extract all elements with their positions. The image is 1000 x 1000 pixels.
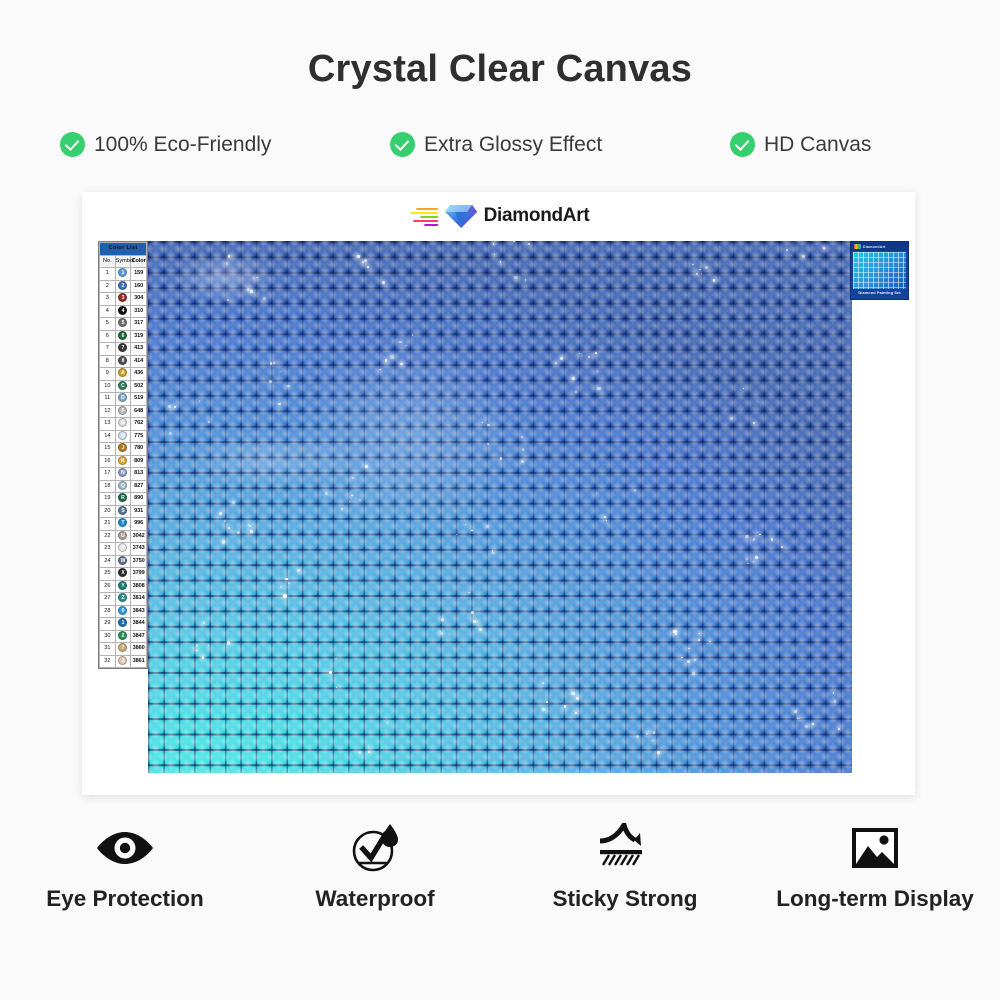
color-row-number: 15 xyxy=(100,443,116,456)
bottom-feature-label: Sticky Strong xyxy=(500,886,750,912)
color-swatch-icon: D xyxy=(118,393,127,402)
color-row-code: 3808 xyxy=(131,580,147,593)
package-brand-name: DiamondArt xyxy=(863,245,886,249)
art-rhinestone-grid-layer xyxy=(148,241,852,773)
feature-item-eco-friendly: 100% Eco-Friendly xyxy=(60,132,390,157)
color-row-code: 310 xyxy=(131,305,147,318)
diamond-art-image xyxy=(148,241,852,773)
color-swatch-icon: T xyxy=(118,518,127,527)
color-swatch-icon: 6 xyxy=(118,331,127,340)
color-row-symbol: C xyxy=(115,380,131,393)
color-row-code: 775 xyxy=(131,430,147,443)
color-list-row: 10C502 xyxy=(100,380,147,393)
color-row-number: 18 xyxy=(100,480,116,493)
color-row-code: 414 xyxy=(131,355,147,368)
color-row-number: 7 xyxy=(100,343,116,356)
color-row-symbol: S xyxy=(115,505,131,518)
color-row-number: 10 xyxy=(100,380,116,393)
bottom-feature-eye-protection: Eye Protection xyxy=(0,820,250,912)
color-row-number: 8 xyxy=(100,355,116,368)
water-drop-check-icon xyxy=(250,820,500,876)
check-circle-icon xyxy=(390,132,415,157)
color-row-symbol: 4 xyxy=(115,305,131,318)
bottom-feature-waterproof: Waterproof xyxy=(250,820,500,912)
color-row-number: 23 xyxy=(100,543,116,556)
feature-item-glossy-effect: Extra Glossy Effect xyxy=(390,132,730,157)
color-row-number: 2 xyxy=(100,280,116,293)
color-row-code: 317 xyxy=(131,318,147,331)
color-swatch-icon: R xyxy=(118,493,127,502)
color-list-row: 32J3861 xyxy=(100,655,147,668)
color-swatch-icon: 4 xyxy=(118,306,127,315)
color-row-number: 31 xyxy=(100,643,116,656)
color-swatch-icon: 1 xyxy=(118,618,127,627)
color-row-number: 24 xyxy=(100,555,116,568)
color-row-code: 3844 xyxy=(131,618,147,631)
color-list-row: 17N813 xyxy=(100,468,147,481)
color-list-row: 27Z3814 xyxy=(100,593,147,606)
column-header-no: No. xyxy=(100,255,116,268)
color-list-row: 2803843 xyxy=(100,605,147,618)
color-row-code: 413 xyxy=(131,343,147,356)
color-row-code: 3799 xyxy=(131,568,147,581)
eye-icon xyxy=(0,820,250,876)
color-row-symbol: U xyxy=(115,530,131,543)
brand-name: DiamondArt xyxy=(484,205,590,227)
color-swatch-icon: 7 xyxy=(118,343,127,352)
color-swatch-icon: N xyxy=(118,468,127,477)
picture-icon xyxy=(750,820,1000,876)
feature-label: HD Canvas xyxy=(764,133,871,157)
color-row-symbol: V xyxy=(115,543,131,556)
color-swatch-icon: 1 xyxy=(118,268,127,277)
color-row-number: 32 xyxy=(100,655,116,668)
color-row-symbol: A xyxy=(115,368,131,381)
bottom-feature-label: Long-term Display xyxy=(750,886,1000,912)
color-row-code: 304 xyxy=(131,293,147,306)
color-list-row: 19R890 xyxy=(100,493,147,506)
color-row-code: 3743 xyxy=(131,543,147,556)
color-row-number: 5 xyxy=(100,318,116,331)
color-swatch-icon: K xyxy=(118,456,127,465)
package-caption: Diamond Painting Set xyxy=(851,290,908,295)
color-swatch-icon: Z xyxy=(118,593,127,602)
page-title: Crystal Clear Canvas xyxy=(0,48,1000,91)
color-row-code: 996 xyxy=(131,518,147,531)
color-list-row: 11D519 xyxy=(100,393,147,406)
rainbow-streaks-icon xyxy=(408,205,438,227)
color-row-code: 809 xyxy=(131,455,147,468)
color-list-row: 77413 xyxy=(100,343,147,356)
color-row-symbol: J xyxy=(115,443,131,456)
brand-logo: DiamondArt xyxy=(408,201,590,231)
color-list-row: 25X3799 xyxy=(100,568,147,581)
package-brand-bar: DiamondArt xyxy=(851,242,908,251)
color-row-code: 3861 xyxy=(131,655,147,668)
color-row-symbol: 0 xyxy=(115,605,131,618)
color-row-number: 25 xyxy=(100,568,116,581)
color-row-code: 319 xyxy=(131,330,147,343)
color-row-code: 813 xyxy=(131,468,147,481)
color-swatch-icon: 2 xyxy=(118,631,127,640)
color-swatch-icon: 0 xyxy=(118,606,127,615)
color-row-number: 14 xyxy=(100,430,116,443)
color-row-code: 3860 xyxy=(131,643,147,656)
color-row-symbol: 5 xyxy=(115,318,131,331)
color-row-symbol: 7 xyxy=(115,643,131,656)
bottom-feature-label: Waterproof xyxy=(250,886,500,912)
color-row-symbol: X xyxy=(115,568,131,581)
color-row-symbol: 7 xyxy=(115,343,131,356)
color-swatch-icon: A xyxy=(118,368,127,377)
color-list-row: 18Q827 xyxy=(100,480,147,493)
color-row-number: 29 xyxy=(100,618,116,631)
color-row-number: 9 xyxy=(100,368,116,381)
color-row-code: 648 xyxy=(131,405,147,418)
color-row-symbol: Z xyxy=(115,593,131,606)
package-art-preview xyxy=(853,252,906,289)
color-list-title: Color List xyxy=(100,243,147,256)
color-list-row: 55317 xyxy=(100,318,147,331)
product-canvas-frame: DiamondArt Color List No. Symbol Color 1… xyxy=(82,192,915,795)
color-list-row: 11159 xyxy=(100,268,147,281)
color-swatch-icon: X xyxy=(118,568,127,577)
color-row-symbol: 3 xyxy=(115,293,131,306)
feature-label: 100% Eco-Friendly xyxy=(94,133,271,157)
feature-item-hd-canvas: HD Canvas xyxy=(730,132,950,157)
bottom-feature-long-term-display: Long-term Display xyxy=(750,820,1000,912)
color-list-row: 22U3042 xyxy=(100,530,147,543)
color-row-symbol: G xyxy=(115,418,131,431)
color-list-row: 22160 xyxy=(100,280,147,293)
color-row-symbol: F xyxy=(115,405,131,418)
package-thumbnail: DiamondArt Diamond Painting Set xyxy=(850,241,909,300)
color-row-code: 3847 xyxy=(131,630,147,643)
color-list-row: 23V3743 xyxy=(100,543,147,556)
color-swatch-icon: C xyxy=(118,381,127,390)
color-swatch-icon: J xyxy=(118,443,127,452)
color-row-number: 17 xyxy=(100,468,116,481)
color-row-code: 160 xyxy=(131,280,147,293)
color-row-number: 22 xyxy=(100,530,116,543)
color-row-number: 16 xyxy=(100,455,116,468)
color-list-row: 13G762 xyxy=(100,418,147,431)
check-circle-icon xyxy=(730,132,755,157)
color-row-number: 3 xyxy=(100,293,116,306)
diamond-icon xyxy=(444,203,478,229)
color-row-symbol: Q xyxy=(115,480,131,493)
color-swatch-icon: 7 xyxy=(118,643,127,652)
bottom-feature-label: Eye Protection xyxy=(0,886,250,912)
color-list-row: 88414 xyxy=(100,355,147,368)
color-row-number: 1 xyxy=(100,268,116,281)
feature-label: Extra Glossy Effect xyxy=(424,133,602,157)
color-row-number: 13 xyxy=(100,418,116,431)
sticky-adhesive-icon xyxy=(500,820,750,876)
color-row-code: 890 xyxy=(131,493,147,506)
color-list-row: 14H775 xyxy=(100,430,147,443)
color-row-code: 436 xyxy=(131,368,147,381)
color-swatch-icon: J xyxy=(118,656,127,665)
color-row-code: 827 xyxy=(131,480,147,493)
color-list-row: 26Y3808 xyxy=(100,580,147,593)
color-row-symbol: D xyxy=(115,393,131,406)
color-row-symbol: T xyxy=(115,518,131,531)
color-swatch-icon: V xyxy=(118,543,127,552)
color-row-number: 11 xyxy=(100,393,116,406)
color-row-symbol: K xyxy=(115,455,131,468)
column-header-color: Color xyxy=(131,255,147,268)
color-row-code: 519 xyxy=(131,393,147,406)
color-list-row: 2913844 xyxy=(100,618,147,631)
color-swatch-icon: 2 xyxy=(118,281,127,290)
color-swatch-icon: S xyxy=(118,506,127,515)
color-list-table: Color List No. Symbol Color 111592216033… xyxy=(98,241,148,669)
color-list-row: 33304 xyxy=(100,293,147,306)
color-swatch-icon: W xyxy=(118,556,127,565)
color-row-number: 19 xyxy=(100,493,116,506)
color-swatch-icon: F xyxy=(118,406,127,415)
color-row-symbol: N xyxy=(115,468,131,481)
color-row-code: 3843 xyxy=(131,605,147,618)
color-row-code: 159 xyxy=(131,268,147,281)
color-row-number: 28 xyxy=(100,605,116,618)
color-row-number: 26 xyxy=(100,580,116,593)
color-list-row: 3173860 xyxy=(100,643,147,656)
color-list-row: 15J780 xyxy=(100,443,147,456)
bottom-feature-row: Eye Protection Waterproof xyxy=(0,820,1000,912)
color-row-symbol: W xyxy=(115,555,131,568)
color-list-row: 44310 xyxy=(100,305,147,318)
color-row-number: 20 xyxy=(100,505,116,518)
color-row-symbol: Y xyxy=(115,580,131,593)
color-row-code: 502 xyxy=(131,380,147,393)
color-row-code: 3750 xyxy=(131,555,147,568)
color-row-code: 780 xyxy=(131,443,147,456)
bottom-feature-sticky-strong: Sticky Strong xyxy=(500,820,750,912)
color-list-row: 12F648 xyxy=(100,405,147,418)
color-row-symbol: H xyxy=(115,430,131,443)
package-rainbow-icon xyxy=(854,244,861,249)
color-row-code: 931 xyxy=(131,505,147,518)
color-swatch-icon: Q xyxy=(118,481,127,490)
color-row-code: 3814 xyxy=(131,593,147,606)
color-row-symbol: 2 xyxy=(115,280,131,293)
color-list-row: 21T996 xyxy=(100,518,147,531)
color-swatch-icon: 8 xyxy=(118,356,127,365)
color-row-number: 30 xyxy=(100,630,116,643)
color-row-number: 4 xyxy=(100,305,116,318)
color-swatch-icon: G xyxy=(118,418,127,427)
color-row-symbol: R xyxy=(115,493,131,506)
column-header-symbol: Symbol xyxy=(115,255,131,268)
color-row-code: 3042 xyxy=(131,530,147,543)
color-list-row: 20S931 xyxy=(100,505,147,518)
color-list-row: 66319 xyxy=(100,330,147,343)
color-row-symbol: J xyxy=(115,655,131,668)
color-row-symbol: 8 xyxy=(115,355,131,368)
color-row-code: 762 xyxy=(131,418,147,431)
color-row-number: 12 xyxy=(100,405,116,418)
color-swatch-icon: Y xyxy=(118,581,127,590)
color-row-symbol: 1 xyxy=(115,618,131,631)
color-row-number: 21 xyxy=(100,518,116,531)
color-row-number: 6 xyxy=(100,330,116,343)
color-row-symbol: 6 xyxy=(115,330,131,343)
feature-check-row: 100% Eco-Friendly Extra Glossy Effect HD… xyxy=(60,132,950,157)
color-swatch-icon: U xyxy=(118,531,127,540)
color-swatch-icon: 5 xyxy=(118,318,127,327)
color-list-row: 9A436 xyxy=(100,368,147,381)
color-row-symbol: 2 xyxy=(115,630,131,643)
color-row-number: 27 xyxy=(100,593,116,606)
color-swatch-icon: H xyxy=(118,431,127,440)
color-swatch-icon: 3 xyxy=(118,293,127,302)
color-list-row: 16K809 xyxy=(100,455,147,468)
color-list-row: 24W3750 xyxy=(100,555,147,568)
color-list-row: 3023847 xyxy=(100,630,147,643)
check-circle-icon xyxy=(60,132,85,157)
color-row-symbol: 1 xyxy=(115,268,131,281)
